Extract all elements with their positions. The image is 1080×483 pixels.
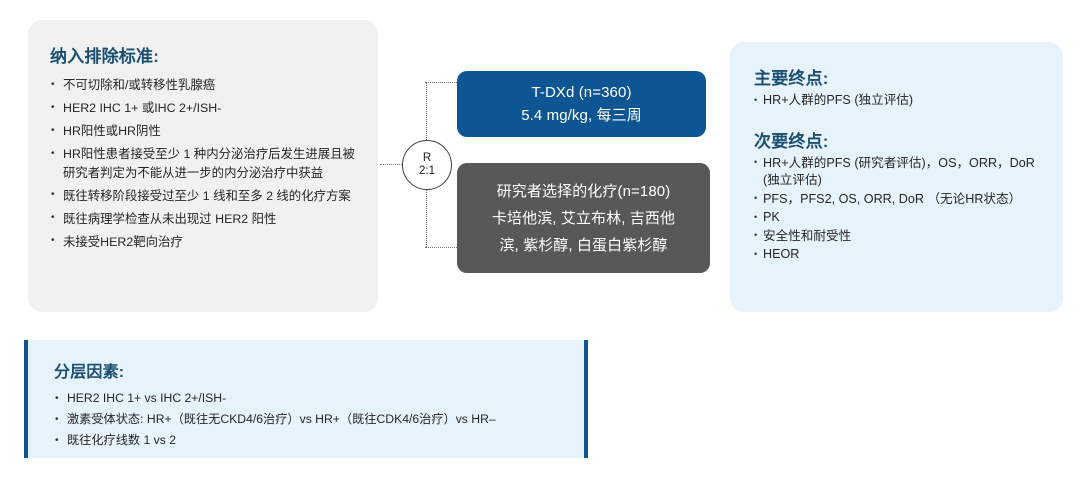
secondary-endpoint-list: HR+人群的PFS (研究者评估)，OS，ORR，DoR (独立评估) PFS，… xyxy=(754,155,1049,264)
connector-line-experimental-horizontal xyxy=(425,82,459,83)
connector-line-experimental-vertical xyxy=(426,82,427,142)
stratification-factors-list: HER2 IHC 1+ vs IHC 2+/ISH- 激素受体状态: HR+（既… xyxy=(54,390,574,449)
randomization-group: R 2:1 T-DXd (n=360) 5.4 mg/kg, 每三周 研究者选择… xyxy=(380,60,720,290)
treatment-arm-experimental: T-DXd (n=360) 5.4 mg/kg, 每三周 xyxy=(457,71,706,137)
stratification-panel-title: 分层因素: xyxy=(54,358,574,382)
connector-line-control-horizontal xyxy=(425,247,459,248)
list-item: 既往病理学检查从未出现过 HER2 阳性 xyxy=(50,210,358,229)
list-item: HR阳性或HR阴性 xyxy=(50,122,358,141)
arm-line: T-DXd (n=360) xyxy=(531,81,631,104)
stratification-factors-panel: 分层因素: HER2 IHC 1+ vs IHC 2+/ISH- 激素受体状态:… xyxy=(24,340,588,458)
list-item: 既往化疗线数 1 vs 2 xyxy=(54,432,574,449)
treatment-arm-control: 研究者选择的化疗(n=180) 卡培他滨, 艾立布林, 吉西他 滨, 紫杉醇, … xyxy=(457,163,710,273)
list-item: HR阳性患者接受至少 1 种内分泌治疗后发生进展且被研究者判定为不能从进一步的内… xyxy=(50,145,358,182)
connector-line-control-vertical xyxy=(426,186,427,247)
list-item: HER2 IHC 1+ vs IHC 2+/ISH- xyxy=(54,390,574,407)
connector-line-input xyxy=(380,164,404,165)
list-item: HR+人群的PFS (独立评估) xyxy=(754,92,1049,110)
arm-line: 5.4 mg/kg, 每三周 xyxy=(521,104,642,127)
list-item: 安全性和耐受性 xyxy=(754,228,1049,246)
list-item: 不可切除和/或转移性乳腺癌 xyxy=(50,76,358,95)
primary-endpoint-title: 主要终点: xyxy=(754,64,1049,89)
randomization-label: R xyxy=(423,152,431,165)
list-item: 既往转移阶段接受过至少 1 线和至多 2 线的化疗方案 xyxy=(50,187,358,206)
list-item: HR+人群的PFS (研究者评估)，OS，ORR，DoR (独立评估) xyxy=(754,155,1049,190)
randomization-ratio: 2:1 xyxy=(419,165,435,178)
arm-line: 卡培他滨, 艾立布林, 吉西他 xyxy=(492,205,675,232)
list-item: 激素受体状态: HR+（既往无CKD4/6治疗）vs HR+（既往CDK4/6治… xyxy=(54,411,574,428)
list-item: 未接受HER2靶向治疗 xyxy=(50,233,358,252)
primary-endpoint-list: HR+人群的PFS (独立评估) xyxy=(754,92,1049,110)
secondary-endpoint-title: 次要终点: xyxy=(754,127,1049,152)
eligibility-criteria-panel: 纳入排除标准: 不可切除和/或转移性乳腺癌 HER2 IHC 1+ 或IHC 2… xyxy=(28,20,378,312)
randomization-ratio-node: R 2:1 xyxy=(402,140,452,190)
endpoints-panel: 主要终点: HR+人群的PFS (独立评估) 次要终点: HR+人群的PFS (… xyxy=(730,42,1063,312)
arm-line: 研究者选择的化疗(n=180) xyxy=(497,178,671,205)
eligibility-criteria-list: 不可切除和/或转移性乳腺癌 HER2 IHC 1+ 或IHC 2+/ISH- H… xyxy=(50,76,358,251)
eligibility-panel-title: 纳入排除标准: xyxy=(50,42,358,67)
list-item: HEOR xyxy=(754,246,1049,264)
list-item: PFS，PFS2, OS, ORR, DoR （无论HR状态） xyxy=(754,191,1049,209)
list-item: HER2 IHC 1+ 或IHC 2+/ISH- xyxy=(50,99,358,118)
arm-line: 滨, 紫杉醇, 白蛋白紫杉醇 xyxy=(499,232,667,259)
list-item: PK xyxy=(754,209,1049,227)
